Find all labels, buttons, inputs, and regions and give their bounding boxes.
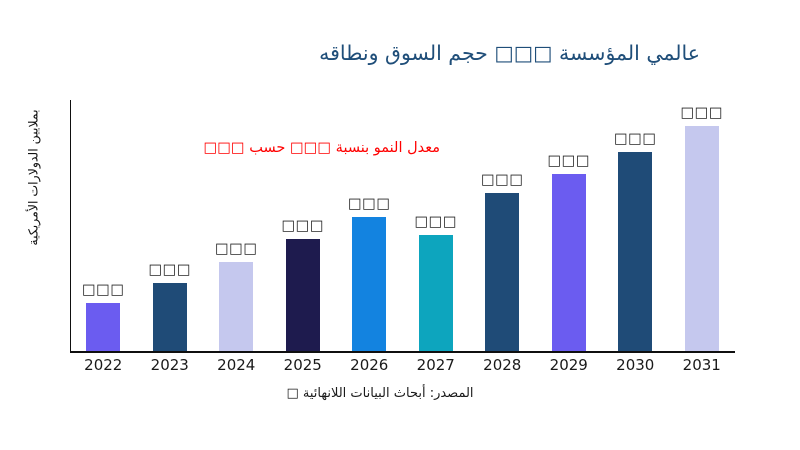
bar[interactable]	[352, 217, 386, 351]
bar-value-label: □□□	[82, 282, 125, 298]
bar-group[interactable]: □□□	[552, 174, 586, 352]
x-tick-label-2029: 2029	[550, 356, 588, 374]
bar-value-label: □□□	[547, 153, 590, 169]
x-tick-label-2022: 2022	[84, 356, 122, 374]
x-axis-tick-labels: 2022202320242025202620272028202920302031	[70, 356, 800, 382]
bar-group[interactable]: □□□	[352, 217, 386, 351]
x-tick-label-2026: 2026	[350, 356, 388, 374]
x-tick-label-2031: 2031	[683, 356, 721, 374]
x-tick-label-2028: 2028	[483, 356, 521, 374]
y-axis-title: بملايين الدولارات الأمريكية	[26, 83, 41, 273]
chart-title: عالمي المؤسسة □□□ حجم السوق ونطاقه	[60, 36, 700, 70]
bar[interactable]	[86, 303, 120, 351]
plot-area: □□□□□□□□□□□□□□□□□□□□□□□□□□□□□□	[70, 100, 735, 353]
bar[interactable]	[618, 152, 652, 352]
chart-container: عالمي المؤسسة □□□ حجم السوق ونطاقه بملاي…	[0, 0, 800, 450]
bar[interactable]	[286, 239, 320, 351]
x-tick-label-2023: 2023	[151, 356, 189, 374]
bar-value-label: □□□	[215, 241, 258, 257]
y-axis-line	[70, 100, 71, 352]
bar-value-label: □□□	[680, 105, 723, 121]
x-tick-label-2025: 2025	[284, 356, 322, 374]
bar[interactable]	[219, 262, 253, 352]
bar-value-label: □□□	[148, 262, 191, 278]
bar-value-label: □□□	[348, 196, 391, 212]
x-tick-label-2030: 2030	[616, 356, 654, 374]
bar[interactable]	[153, 283, 187, 352]
bar-value-label: □□□	[481, 172, 524, 188]
x-tick-label-2027: 2027	[417, 356, 455, 374]
bar-value-label: □□□	[414, 214, 457, 230]
bar-value-label: □□□	[281, 218, 324, 234]
bar[interactable]	[552, 174, 586, 352]
bar-group[interactable]: □□□	[153, 283, 187, 352]
bar[interactable]	[419, 235, 453, 352]
growth-rate-annotation: معدل النمو بنسبة □□□ حسب □□□	[140, 140, 440, 156]
bar-group[interactable]: □□□	[618, 152, 652, 352]
x-tick-label-2024: 2024	[217, 356, 255, 374]
bar[interactable]	[485, 193, 519, 351]
bar-group[interactable]: □□□	[86, 303, 120, 351]
bar-group[interactable]: □□□	[419, 235, 453, 352]
bar-group[interactable]: □□□	[685, 126, 719, 352]
bar-group[interactable]: □□□	[286, 239, 320, 351]
source-note: المصدر: أبحاث البيانات اللانهائية □	[0, 386, 760, 401]
bar[interactable]	[685, 126, 719, 352]
bar-group[interactable]: □□□	[219, 262, 253, 352]
bar-value-label: □□□	[614, 131, 657, 147]
bar-group[interactable]: □□□	[485, 193, 519, 351]
